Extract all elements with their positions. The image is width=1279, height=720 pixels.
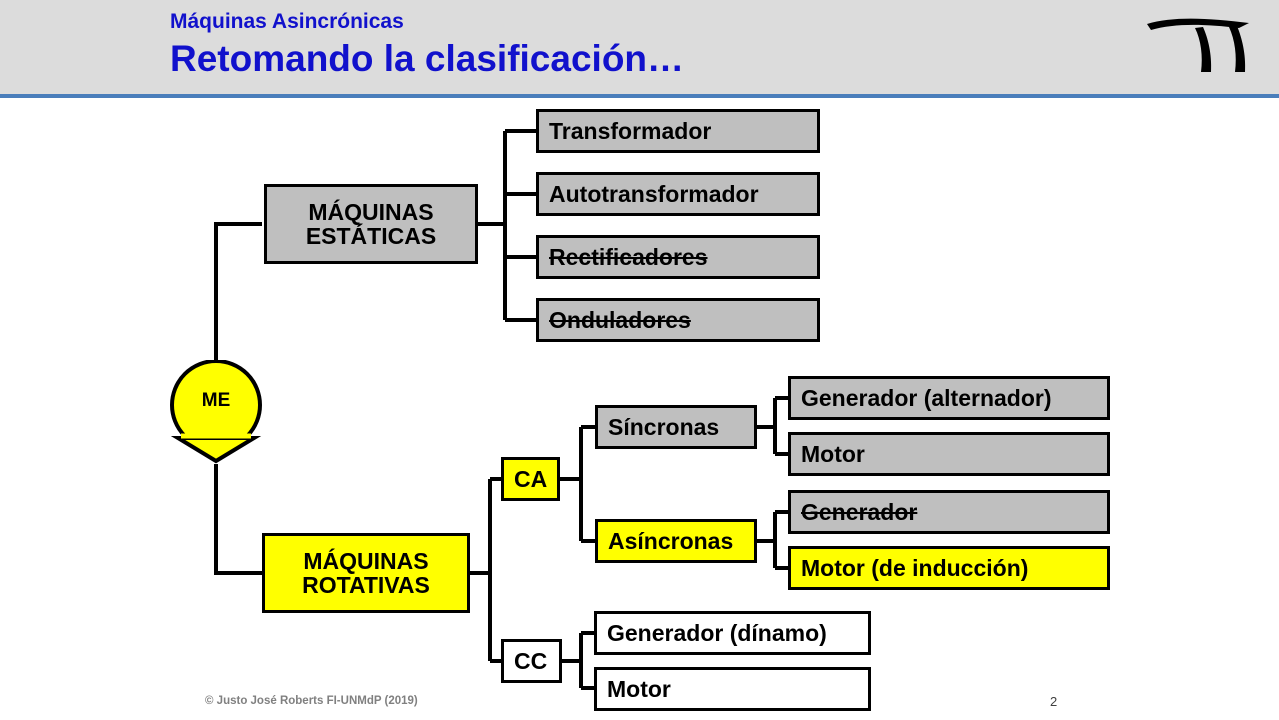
- page-title: Retomando la clasificación…: [170, 38, 684, 80]
- header-subtitle: Máquinas Asincrónicas: [170, 10, 404, 34]
- node-label: CA: [514, 467, 547, 491]
- node-sincronas[interactable]: Síncronas: [595, 405, 757, 449]
- node-transformador[interactable]: Transformador: [536, 109, 820, 153]
- node-label: CC: [514, 649, 547, 673]
- node-label: Motor (de inducción): [801, 556, 1028, 580]
- footer-page-number: 2: [1050, 694, 1057, 709]
- node-label-line2: ESTÁTICAS: [267, 224, 475, 248]
- root-node-label: ME: [168, 390, 264, 412]
- node-rectificadores[interactable]: Rectificadores: [536, 235, 820, 279]
- footer-copyright: © Justo José Roberts FI-UNMdP (2019): [205, 695, 418, 707]
- node-autotransformador[interactable]: Autotransformador: [536, 172, 820, 216]
- node-label: Generador: [801, 500, 917, 524]
- root-node-me[interactable]: [168, 360, 264, 464]
- node-ca[interactable]: CA: [501, 457, 560, 501]
- node-label-line2: ROTATIVAS: [265, 573, 467, 597]
- node-label: Onduladores: [549, 308, 691, 332]
- node-label: Síncronas: [608, 415, 719, 439]
- node-asincronas[interactable]: Asíncronas: [595, 519, 757, 563]
- node-generador-alternador[interactable]: Generador (alternador): [788, 376, 1110, 420]
- tt-logo: [1143, 14, 1253, 74]
- node-motor-induccion[interactable]: Motor (de inducción): [788, 546, 1110, 590]
- node-generador-dinamo[interactable]: Generador (dínamo): [594, 611, 871, 655]
- node-onduladores[interactable]: Onduladores: [536, 298, 820, 342]
- node-motor-sincrono[interactable]: Motor: [788, 432, 1110, 476]
- node-label-line1: MÁQUINAS: [267, 200, 475, 224]
- node-motor-cc[interactable]: Motor: [594, 667, 871, 711]
- node-generador-asincrono[interactable]: Generador: [788, 490, 1110, 534]
- classification-diagram: ME MÁQUINAS ESTÁTICAS Transformador Auto…: [0, 98, 1279, 720]
- node-maquinas-rotativas[interactable]: MÁQUINAS ROTATIVAS: [262, 533, 470, 613]
- node-label: Motor: [801, 442, 865, 466]
- node-label: Autotransformador: [549, 182, 759, 206]
- node-cc[interactable]: CC: [501, 639, 562, 683]
- node-label-line1: MÁQUINAS: [265, 549, 467, 573]
- node-label: Asíncronas: [608, 529, 733, 553]
- node-label: Rectificadores: [549, 245, 708, 269]
- node-label: Transformador: [549, 119, 711, 143]
- slide-header: Máquinas Asincrónicas Retomando la clasi…: [0, 0, 1279, 98]
- node-label: Generador (alternador): [801, 386, 1052, 410]
- node-label: Generador (dínamo): [607, 621, 827, 645]
- node-maquinas-estaticas[interactable]: MÁQUINAS ESTÁTICAS: [264, 184, 478, 264]
- node-label: Motor: [607, 677, 671, 701]
